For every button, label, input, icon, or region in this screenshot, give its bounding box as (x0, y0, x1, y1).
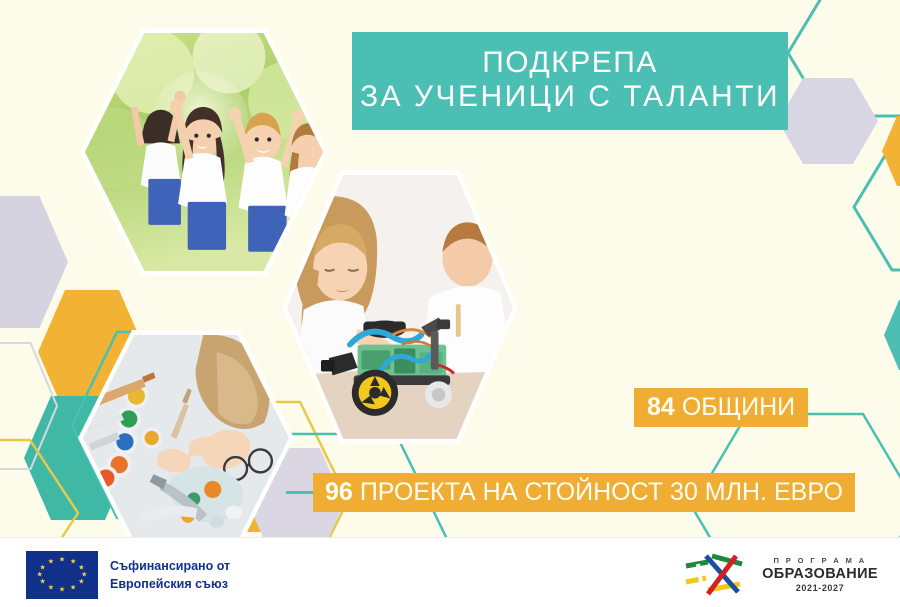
eu-star: ★ (37, 572, 43, 579)
eu-star: ★ (78, 564, 84, 571)
decor-hexagon-teal-right (884, 300, 900, 370)
municipalities-number: 84 (647, 393, 675, 422)
footer-bar: ★★★★★★★★★★★★ Съфинансирано от Европейски… (0, 537, 900, 607)
title-line-2: ЗА УЧЕНИЦИ С ТАЛАНТИ (360, 78, 780, 116)
eu-star: ★ (70, 559, 76, 566)
eu-text-line-1: Съфинансирано от (110, 557, 230, 575)
eu-cofunding-text: Съфинансирано от Европейския съюз (110, 557, 230, 593)
projects-number: 96 (325, 478, 353, 507)
eu-star: ★ (59, 557, 65, 564)
programme-education-logo-icon (682, 550, 748, 598)
stat-badge-municipalities: 84 ОБЩИНИ (634, 388, 808, 427)
eu-star: ★ (78, 579, 84, 586)
photo-cheering-schoolchildren (80, 28, 328, 276)
poster-canvas: ПОДКРЕПА ЗА УЧЕНИЦИ С ТАЛАНТИ 84 ОБЩИНИ … (0, 0, 900, 607)
eu-star: ★ (48, 584, 54, 591)
programme-period: 2021-2027 (762, 583, 878, 593)
eu-star: ★ (40, 579, 46, 586)
eu-star: ★ (48, 559, 54, 566)
projects-label: ПРОЕКТА НА СТОЙНОСТ 30 МЛН. ЕВРО (360, 478, 843, 507)
stat-badge-projects: 96 ПРОЕКТА НА СТОЙНОСТ 30 МЛН. ЕВРО (313, 473, 855, 512)
eu-star: ★ (70, 584, 76, 591)
title-banner: ПОДКРЕПА ЗА УЧЕНИЦИ С ТАЛАНТИ (352, 32, 788, 130)
programme-label: П Р О Г Р А М А (762, 556, 878, 565)
municipalities-label: ОБЩИНИ (682, 393, 795, 422)
eu-flag-icon: ★★★★★★★★★★★★ (26, 551, 98, 599)
programme-education-text: П Р О Г Р А М А ОБРАЗОВАНИЕ 2021-2027 (762, 556, 878, 593)
eu-star: ★ (40, 564, 46, 571)
eu-cofunding-logo: ★★★★★★★★★★★★ Съфинансирано от Европейски… (26, 551, 230, 599)
eu-star: ★ (59, 586, 65, 593)
eu-text-line-2: Европейския съюз (110, 575, 230, 593)
eu-star: ★ (81, 572, 87, 579)
programme-name: ОБРАЗОВАНИЕ (762, 566, 878, 582)
title-line-1: ПОДКРЕПА (482, 47, 658, 79)
programme-education-logo: П Р О Г Р А М А ОБРАЗОВАНИЕ 2021-2027 (682, 550, 878, 598)
